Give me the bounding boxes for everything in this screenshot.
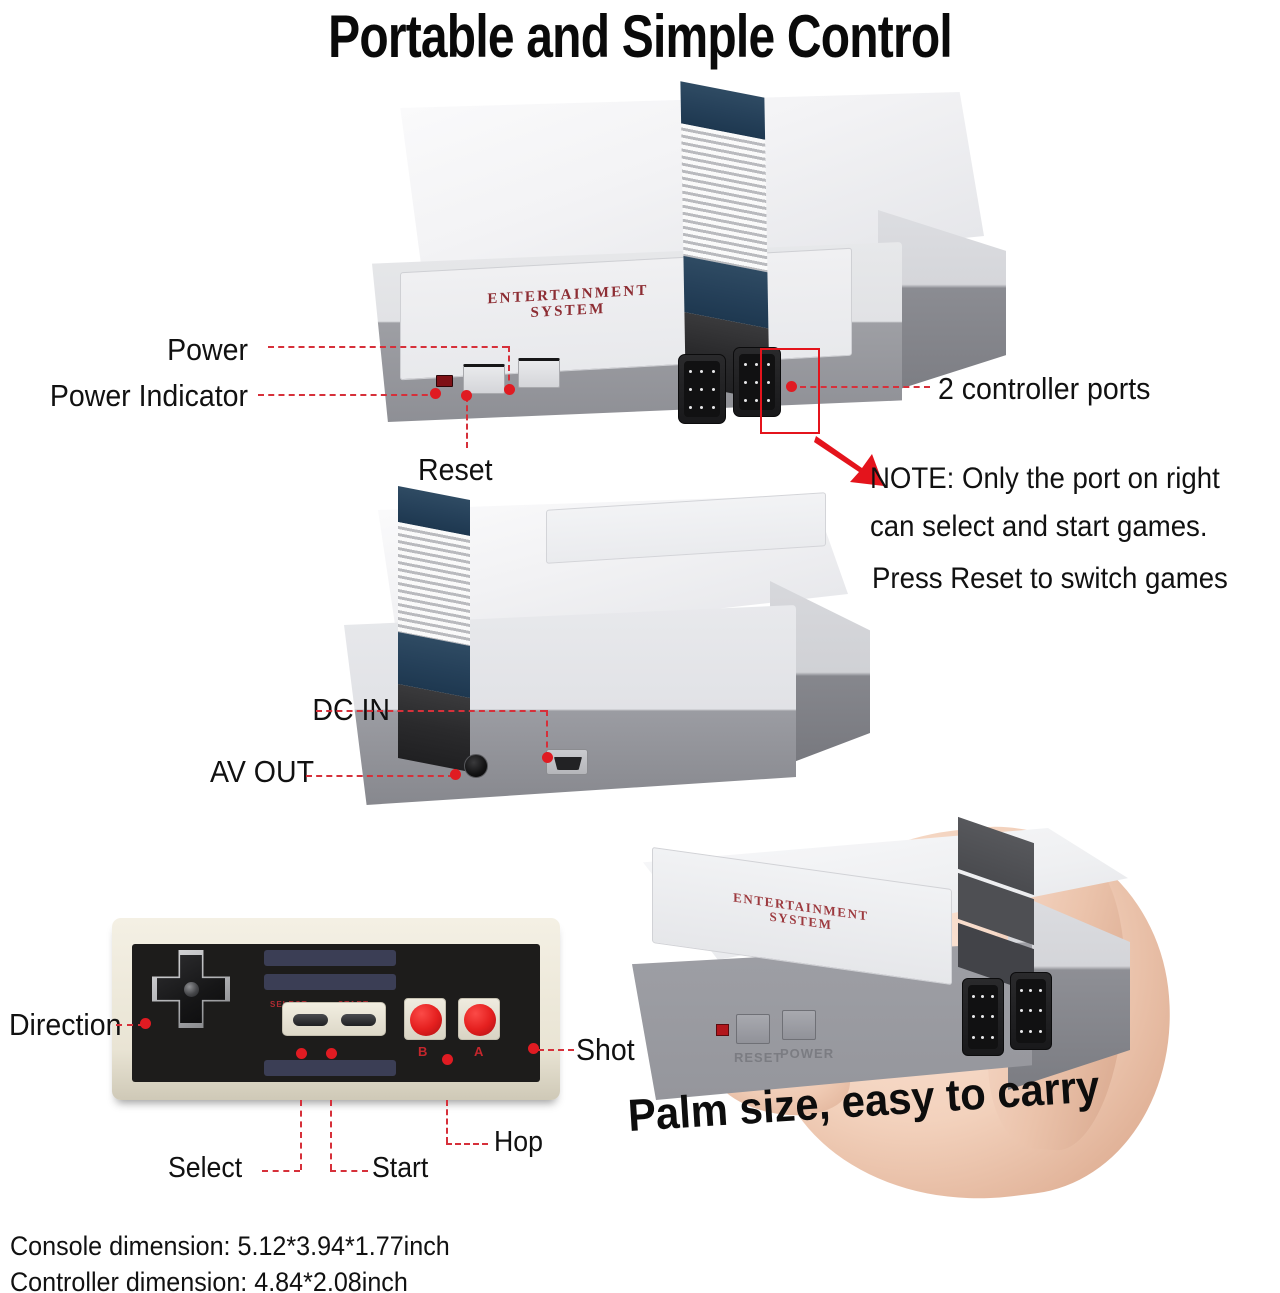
leader-hop-vertical xyxy=(446,1100,448,1143)
console-rear-vent-strip xyxy=(398,486,470,772)
port-left-pins xyxy=(685,362,719,416)
label-reset: Reset xyxy=(418,452,493,488)
label-start: Start xyxy=(372,1152,428,1185)
leader-power-indicator-dot xyxy=(430,388,441,399)
dpad[interactable] xyxy=(152,950,230,1028)
controller-dimension-text: Controller dimension: 4.84*2.08inch xyxy=(10,1264,450,1293)
leader-hop-horizontal xyxy=(446,1143,488,1145)
label-power-indicator: Power Indicator xyxy=(20,378,248,414)
console-rear-view-image xyxy=(318,487,878,817)
note-line-2: can select and start games. xyxy=(870,510,1208,544)
leader-select-horizontal xyxy=(262,1170,300,1172)
handheld-controller-port-left[interactable] xyxy=(962,978,1004,1056)
handheld-power-button[interactable] xyxy=(782,1010,816,1040)
handheld-port-right-pins xyxy=(1017,980,1045,1042)
label-select: Select xyxy=(168,1152,242,1185)
dpad-center-hub xyxy=(184,982,199,997)
leader-start-vertical xyxy=(330,1100,332,1170)
page-title: Portable and Simple Control xyxy=(128,2,1152,71)
palm-size-photo: ENTERTAINMENT SYSTEM RESET POWER xyxy=(600,810,1280,1230)
leader-dcin-horizontal xyxy=(316,710,546,712)
rear-vent-ribs xyxy=(398,522,470,646)
leader-avout-dot xyxy=(450,769,461,780)
handheld-controller-port-right[interactable] xyxy=(1010,972,1052,1050)
handheld-port-left-pins xyxy=(969,986,997,1048)
leader-reset-dot xyxy=(461,390,472,401)
label-hop: Hop xyxy=(494,1126,543,1159)
note-line-3: Press Reset to switch games xyxy=(872,562,1228,596)
leader-dcin-vertical xyxy=(546,710,548,758)
leader-reset-vertical xyxy=(466,396,468,448)
a-button-plate xyxy=(458,998,500,1040)
power-indicator-led xyxy=(436,375,453,387)
leader-select-dot xyxy=(296,1048,307,1059)
start-button[interactable] xyxy=(341,1014,376,1026)
b-button-label: B xyxy=(418,1044,427,1059)
reset-button[interactable] xyxy=(463,364,505,394)
b-button-plate xyxy=(404,998,446,1040)
power-button[interactable] xyxy=(518,358,560,388)
av-out-jack[interactable] xyxy=(464,754,488,778)
dimensions-block: Console dimension: 5.12*3.94*1.77inch Co… xyxy=(10,1228,450,1293)
face-stripe-2 xyxy=(264,974,396,990)
label-av-out: AV OUT xyxy=(25,754,314,790)
leader-start-horizontal xyxy=(330,1170,368,1172)
rear-vent-dark-base xyxy=(398,684,470,772)
leader-power-indicator xyxy=(258,394,438,396)
leader-ports-horizontal xyxy=(800,386,930,388)
select-start-plate xyxy=(282,1002,386,1036)
leader-power-dot xyxy=(504,384,515,395)
leader-direction-dot xyxy=(140,1018,151,1029)
a-button[interactable] xyxy=(464,1004,496,1036)
note-line-1: NOTE: Only the port on right xyxy=(870,462,1220,496)
label-power: Power xyxy=(20,332,248,368)
leader-power-horizontal xyxy=(268,346,508,348)
b-button[interactable] xyxy=(410,1004,442,1036)
handheld-reset-label: RESET xyxy=(734,1050,782,1065)
controller-image: SELECT START B A xyxy=(112,918,560,1100)
select-button[interactable] xyxy=(293,1014,328,1026)
handheld-power-led xyxy=(716,1024,729,1036)
vent-ribs xyxy=(681,123,767,272)
leader-dcin-dot xyxy=(542,752,553,763)
console-dimension-text: Console dimension: 5.12*3.94*1.77inch xyxy=(10,1228,450,1264)
label-direction: Direction xyxy=(9,1007,112,1043)
face-stripe-1 xyxy=(264,950,396,966)
face-stripe-3 xyxy=(264,1060,396,1076)
handheld-power-label: POWER xyxy=(780,1046,834,1061)
dc-in-usb-port[interactable] xyxy=(546,749,588,775)
handheld-reset-button[interactable] xyxy=(736,1014,770,1044)
leader-hop-dot xyxy=(442,1054,453,1065)
infographic-page: Portable and Simple Control ENTERTAINMEN… xyxy=(0,0,1280,1293)
leader-shot xyxy=(538,1049,574,1051)
leader-shot-dot xyxy=(528,1043,539,1054)
label-controller-ports: 2 controller ports xyxy=(938,371,1150,407)
a-button-label: A xyxy=(474,1044,483,1059)
usb-hole xyxy=(554,757,582,770)
controller-port-left[interactable] xyxy=(678,354,726,424)
leader-ports-dot xyxy=(786,381,797,392)
leader-start-dot xyxy=(326,1048,337,1059)
leader-avout-horizontal xyxy=(306,775,454,777)
console-front-view-image: ENTERTAINMENT SYSTEM xyxy=(348,92,1008,432)
leader-select-vertical xyxy=(300,1100,302,1170)
